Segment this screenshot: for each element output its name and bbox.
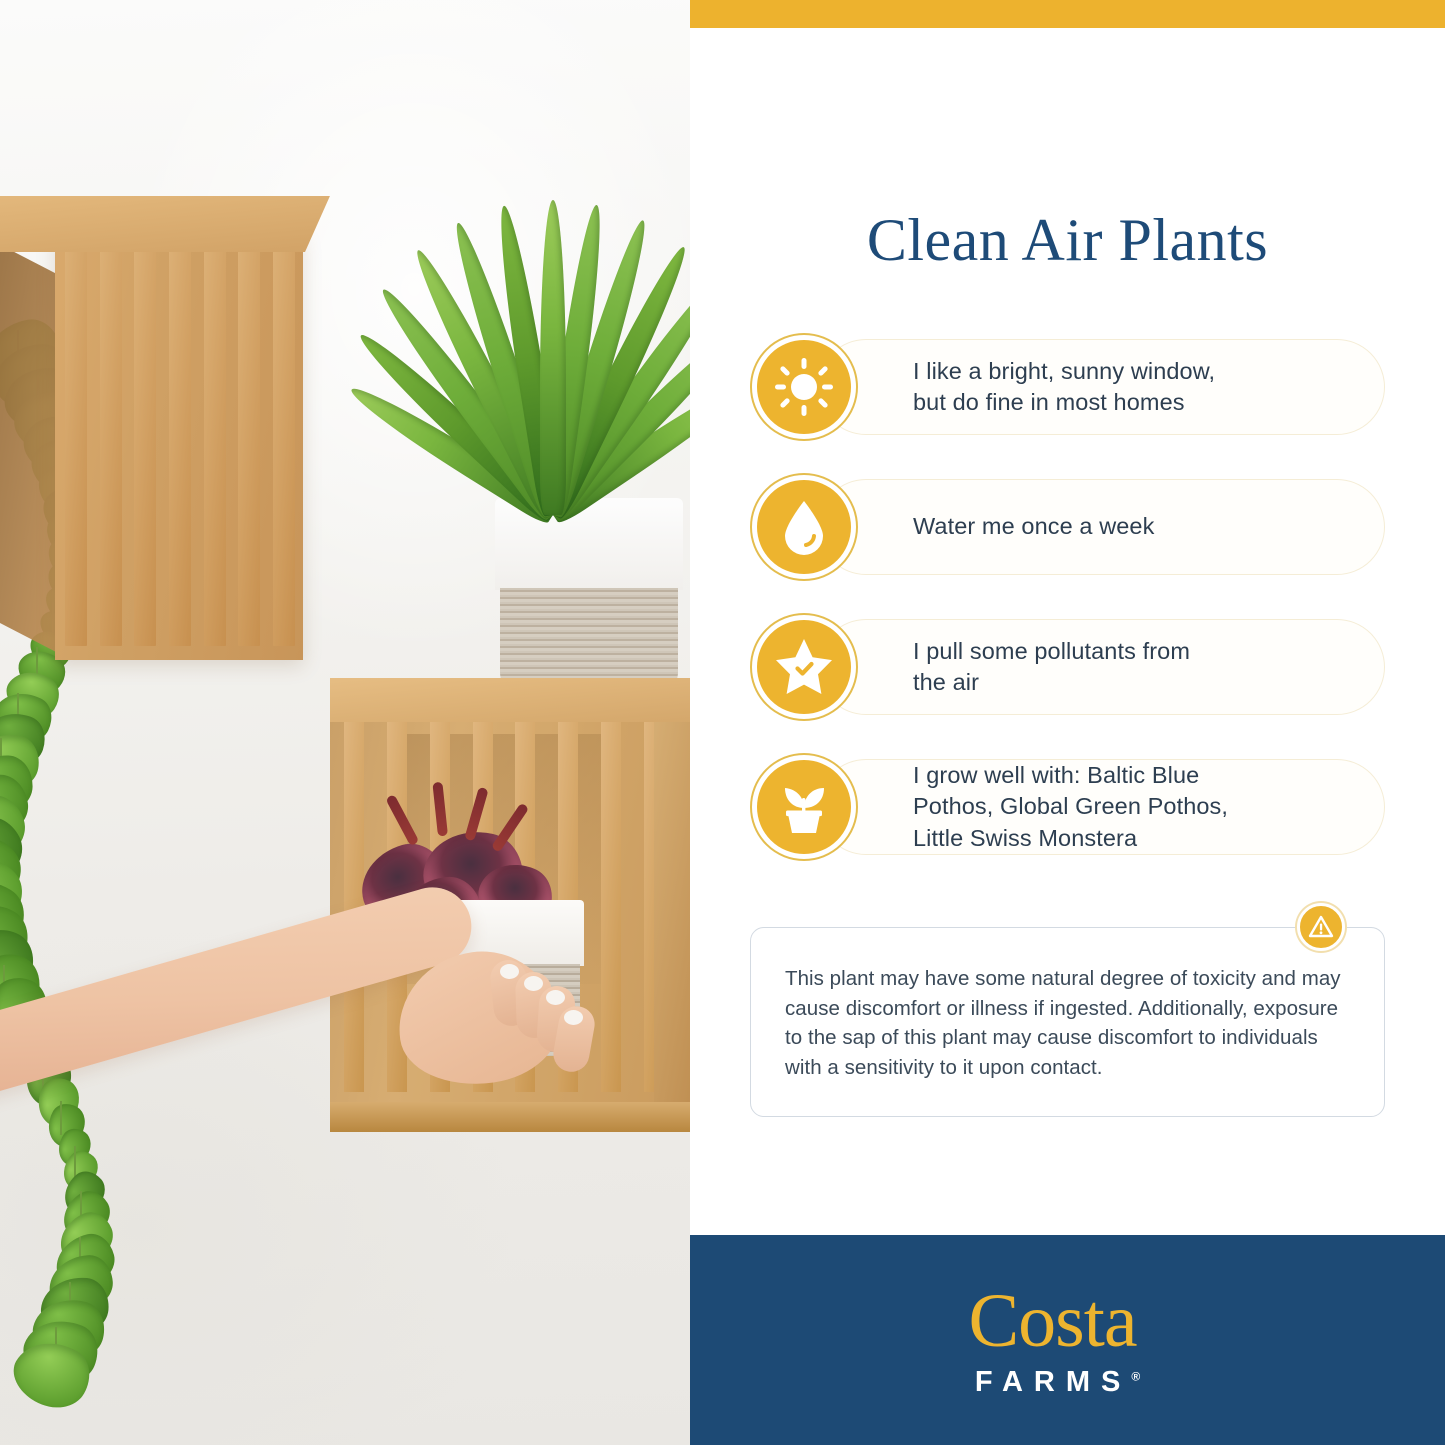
shelf-slats <box>65 246 295 646</box>
care-fact-pill: I like a bright, sunny window, but do fi… <box>818 339 1385 435</box>
care-fact-text: Water me once a week <box>913 511 1154 542</box>
product-photo <box>0 0 690 1445</box>
shelf-right-post <box>654 696 690 1126</box>
warning-triangle-icon <box>1297 903 1345 951</box>
top-accent-bar <box>690 0 1445 28</box>
shelf-top <box>330 678 690 722</box>
care-fact-text: I grow well with: Baltic Blue Pothos, Gl… <box>913 760 1228 854</box>
panel-body: Clean Air Plants I like a bright, sunny … <box>690 28 1445 1235</box>
care-fact-text: I like a bright, sunny window, but do fi… <box>913 356 1215 419</box>
star-check-icon <box>750 613 858 721</box>
shelf-bottom-ledge <box>330 1102 690 1132</box>
sun-icon <box>750 333 858 441</box>
info-panel: Clean Air Plants I like a bright, sunny … <box>690 0 1445 1445</box>
care-fact-pill: I pull some pollutants from the air <box>818 619 1385 715</box>
croton-plant <box>420 185 685 515</box>
logo-wordmark-primary: Costa <box>965 1283 1140 1359</box>
care-fact-pill: I grow well with: Baltic Blue Pothos, Gl… <box>818 759 1385 855</box>
toxicity-warning: This plant may have some natural degree … <box>750 927 1385 1117</box>
care-fact-pill: Water me once a week <box>818 479 1385 575</box>
care-fact-row: Water me once a week <box>750 473 1385 581</box>
brand-footer: Costa FARMS® <box>690 1235 1445 1445</box>
care-fact-row: I like a bright, sunny window, but do fi… <box>750 333 1385 441</box>
shelf-side-panel <box>0 224 60 654</box>
potted-plant-icon <box>750 753 858 861</box>
toxicity-warning-text: This plant may have some natural degree … <box>785 964 1350 1082</box>
photo-stage <box>0 0 690 1445</box>
care-fact-text: I pull some pollutants from the air <box>913 636 1190 699</box>
poster-root: Clean Air Plants I like a bright, sunny … <box>0 0 1445 1445</box>
care-fact-row: I grow well with: Baltic Blue Pothos, Gl… <box>750 753 1385 861</box>
page-title: Clean Air Plants <box>750 210 1385 270</box>
care-fact-row: I pull some pollutants from the air <box>750 613 1385 721</box>
costa-farms-logo: Costa FARMS® <box>965 1283 1140 1397</box>
care-facts-list: I like a bright, sunny window, but do fi… <box>750 333 1385 861</box>
water-drop-icon <box>750 473 858 581</box>
toxicity-warning-box: This plant may have some natural degree … <box>750 927 1385 1117</box>
shelf-top <box>0 196 330 252</box>
wall-shelf-upper <box>0 196 315 666</box>
logo-wordmark-secondary: FARMS® <box>965 1368 1140 1397</box>
